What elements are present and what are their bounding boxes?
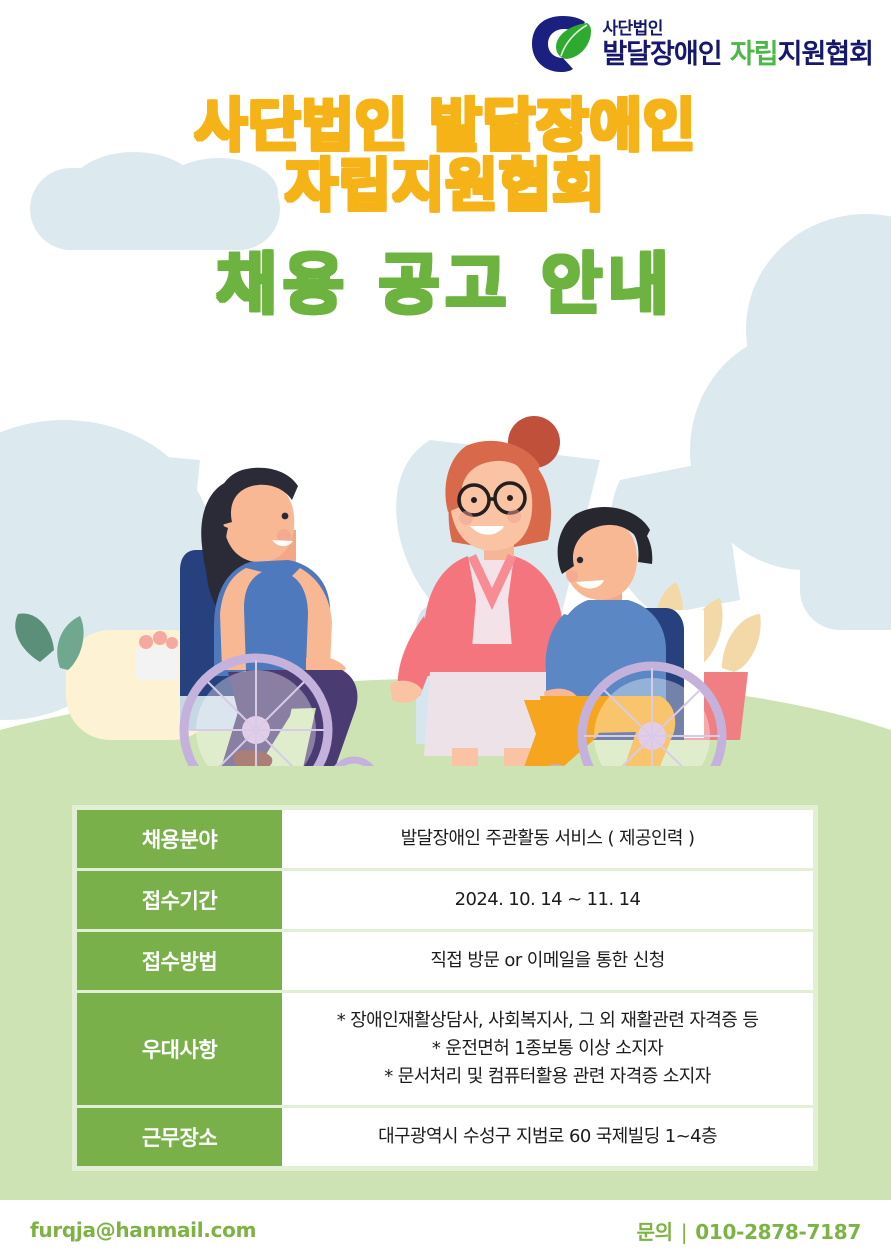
row-label-field: 채용분야: [77, 810, 282, 868]
value-line: 발달장애인 주관활동 서비스 ( 제공인력 ): [401, 825, 695, 853]
title-line-2: 자립지원협회: [0, 156, 891, 216]
title-line-1: 사단법인 발달장애인: [0, 96, 891, 156]
table-row: 접수방법 직접 방문 or 이메일을 통한 신청: [77, 929, 813, 990]
page-title: 사단법인 발달장애인 자립지원협회 채용 공고 안내: [0, 96, 891, 320]
row-value-method: 직접 방문 or 이메일을 통한 신청: [282, 932, 813, 990]
logo-name-accent: 자립: [730, 39, 778, 70]
separator: |: [681, 1220, 687, 1244]
logo-line-2: 발달장애인 자립지원협회: [602, 41, 873, 68]
row-label-period: 접수기간: [77, 871, 282, 929]
value-line: 대구광역시 수성구 지범로 60 국제빌딩 1~4층: [378, 1123, 717, 1151]
row-label-preferences: 우대사항: [77, 993, 282, 1105]
recruitment-poster: 사단법인 발달장애인 자립지원협회 사단법인 발달장애인 자립지원협회 채용 공…: [0, 0, 891, 1260]
contact-phone[interactable]: 문의|010-2878-7187: [637, 1216, 861, 1245]
row-label-method: 접수방법: [77, 932, 282, 990]
logo-text: 사단법인 발달장애인 자립지원협회: [602, 21, 873, 68]
value-line: 직접 방문 or 이메일을 통한 신청: [430, 947, 664, 975]
phone-number[interactable]: 010-2878-7187: [695, 1220, 861, 1244]
value-line: * 운전면허 1종보통 이상 소지자: [432, 1035, 663, 1063]
value-line: * 장애인재활상담사, 사회복지사, 그 외 재활관련 자격증 등: [337, 1007, 759, 1035]
inquiry-label: 문의: [637, 1220, 673, 1244]
leaf-logo-mark: [530, 14, 596, 74]
table-row: 접수기간 2024. 10. 14 ~ 11. 14: [77, 868, 813, 929]
row-value-period: 2024. 10. 14 ~ 11. 14: [282, 871, 813, 929]
row-value-location: 대구광역시 수성구 지범로 60 국제빌딩 1~4층: [282, 1108, 813, 1166]
logo-name-pre: 발달장애인: [602, 39, 730, 70]
row-value-field: 발달장애인 주관활동 서비스 ( 제공인력 ): [282, 810, 813, 868]
wheelchair-scene-svg: [0, 400, 891, 820]
hero-illustration: [0, 400, 891, 820]
row-label-location: 근무장소: [77, 1108, 282, 1166]
recruitment-info-table: 채용분야 발달장애인 주관활동 서비스 ( 제공인력 ) 접수기간 2024. …: [72, 805, 818, 1171]
contact-email[interactable]: furqja@hanmail.com: [30, 1218, 256, 1242]
logo-name-post: 지원협회: [778, 39, 873, 70]
value-line: 2024. 10. 14 ~ 11. 14: [455, 886, 641, 914]
table-row: 우대사항 * 장애인재활상담사, 사회복지사, 그 외 재활관련 자격증 등 *…: [77, 990, 813, 1105]
table-row: 채용분야 발달장애인 주관활동 서비스 ( 제공인력 ): [77, 810, 813, 868]
value-line: * 문서처리 및 컴퓨터활용 관련 자격증 소지자: [384, 1063, 710, 1091]
headline: 채용 공고 안내: [0, 250, 891, 320]
footer-contact-bar: furqja@hanmail.com 문의|010-2878-7187: [0, 1200, 891, 1260]
row-value-preferences: * 장애인재활상담사, 사회복지사, 그 외 재활관련 자격증 등 * 운전면허…: [282, 993, 813, 1105]
logo-line-1: 사단법인: [602, 21, 873, 38]
organization-logo: 사단법인 발달장애인 자립지원협회: [530, 14, 873, 74]
table-row: 근무장소 대구광역시 수성구 지범로 60 국제빌딩 1~4층: [77, 1105, 813, 1166]
